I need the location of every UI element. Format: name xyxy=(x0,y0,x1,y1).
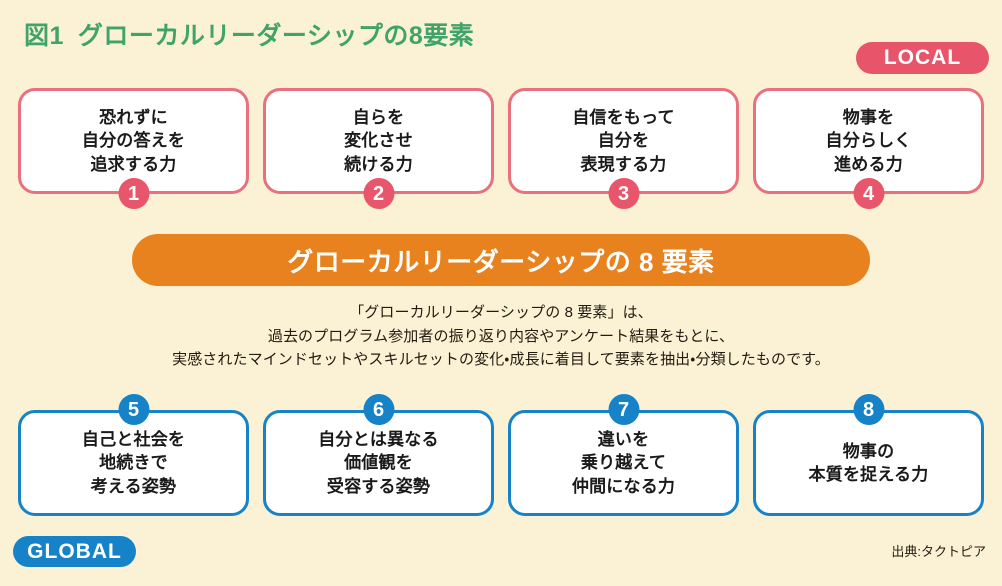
card-global-8-line1: 物事の xyxy=(809,440,929,463)
card-global-6-line2: 価値観を xyxy=(318,451,438,474)
card-local-1-line1: 恐れずに xyxy=(82,106,185,129)
card-local-2-number: 2 xyxy=(363,178,394,209)
local-card-row: 恐れずに 自分の答えを 追求する力 1 自らを 変化させ 続ける力 2 自信をも… xyxy=(18,88,984,194)
card-local-4-line1: 物事を xyxy=(826,106,912,129)
description-line-1: 「グローカルリーダーシップの 8 要素」は、 xyxy=(0,301,1002,325)
card-global-8-line2: 本質を捉える力 xyxy=(809,463,929,486)
center-banner-label: グローカルリーダーシップの 8 要素 xyxy=(287,242,714,279)
card-global-8[interactable]: 8 物事の 本質を捉える力 xyxy=(753,410,984,516)
card-global-6-text: 自分とは異なる 価値観を 受容する姿勢 xyxy=(318,428,438,497)
card-global-7-line2: 乗り越えて xyxy=(572,451,675,474)
card-local-3-number: 3 xyxy=(608,178,639,209)
card-local-1[interactable]: 恐れずに 自分の答えを 追求する力 1 xyxy=(18,88,249,194)
card-global-5-text: 自己と社会を 地続きで 考える姿勢 xyxy=(82,428,185,497)
local-badge-label: LOCAL xyxy=(884,46,961,70)
card-local-3-line1: 自信をもって xyxy=(572,106,674,129)
card-local-4[interactable]: 物事を 自分らしく 進める力 4 xyxy=(753,88,984,194)
card-global-7-line1: 違いを xyxy=(572,428,675,451)
card-global-7-number: 7 xyxy=(608,394,639,425)
card-local-3-line3: 表現する力 xyxy=(572,153,674,176)
description-line-3: 実感されたマインドセットやスキルセットの変化・成長に着目して要素を抽出・分類した… xyxy=(0,348,1002,372)
page-title: 図1グローカルリーダーシップの8要素 xyxy=(24,16,474,52)
card-local-2-line3: 続ける力 xyxy=(344,153,413,176)
card-local-4-line3: 進める力 xyxy=(826,153,912,176)
global-badge-label: GLOBAL xyxy=(27,540,122,564)
global-badge: GLOBAL xyxy=(13,536,136,567)
card-local-2-line2: 変化させ xyxy=(344,129,413,152)
card-global-7-text: 違いを 乗り越えて 仲間になる力 xyxy=(572,428,675,497)
description-block: 「グローカルリーダーシップの 8 要素」は、 過去のプログラム参加者の振り返り内… xyxy=(0,301,1002,372)
card-global-8-text: 物事の 本質を捉える力 xyxy=(809,440,929,486)
card-local-1-text: 恐れずに 自分の答えを 追求する力 xyxy=(82,106,185,175)
card-global-6[interactable]: 6 自分とは異なる 価値観を 受容する姿勢 xyxy=(263,410,494,516)
card-local-4-text: 物事を 自分らしく 進める力 xyxy=(826,106,912,175)
card-global-6-number: 6 xyxy=(363,394,394,425)
figure-label: 図1 xyxy=(24,22,64,50)
card-local-4-number: 4 xyxy=(853,178,884,209)
card-global-5-line3: 考える姿勢 xyxy=(82,475,185,498)
card-global-6-line1: 自分とは異なる xyxy=(318,428,438,451)
card-local-2[interactable]: 自らを 変化させ 続ける力 2 xyxy=(263,88,494,194)
card-global-6-line3: 受容する姿勢 xyxy=(318,475,438,498)
source-attribution: 出典:タクトピア xyxy=(891,541,986,560)
infographic-root: 図1グローカルリーダーシップの8要素 LOCAL 恐れずに 自分の答えを 追求す… xyxy=(0,0,1002,586)
center-banner: グローカルリーダーシップの 8 要素 xyxy=(132,234,870,286)
card-local-1-line3: 追求する力 xyxy=(82,153,185,176)
card-global-5-number: 5 xyxy=(118,394,149,425)
card-local-1-line2: 自分の答えを xyxy=(82,129,185,152)
card-local-3-text: 自信をもって 自分を 表現する力 xyxy=(572,106,674,175)
card-local-2-text: 自らを 変化させ 続ける力 xyxy=(344,106,413,175)
card-local-3[interactable]: 自信をもって 自分を 表現する力 3 xyxy=(508,88,739,194)
card-global-5-line1: 自己と社会を xyxy=(82,428,185,451)
card-local-4-line2: 自分らしく xyxy=(826,129,912,152)
card-global-5-line2: 地続きで xyxy=(82,451,185,474)
card-local-1-number: 1 xyxy=(118,178,149,209)
global-card-row: 5 自己と社会を 地続きで 考える姿勢 6 自分とは異なる 価値観を 受容する姿… xyxy=(18,410,984,516)
card-global-8-number: 8 xyxy=(853,394,884,425)
card-global-5[interactable]: 5 自己と社会を 地続きで 考える姿勢 xyxy=(18,410,249,516)
card-local-3-line2: 自分を xyxy=(572,129,674,152)
card-global-7[interactable]: 7 違いを 乗り越えて 仲間になる力 xyxy=(508,410,739,516)
card-local-2-line1: 自らを xyxy=(344,106,413,129)
figure-title-text: グローカルリーダーシップの8要素 xyxy=(78,22,474,50)
local-badge: LOCAL xyxy=(856,42,989,74)
description-line-2: 過去のプログラム参加者の振り返り内容やアンケート結果をもとに、 xyxy=(0,325,1002,349)
card-global-7-line3: 仲間になる力 xyxy=(572,475,675,498)
